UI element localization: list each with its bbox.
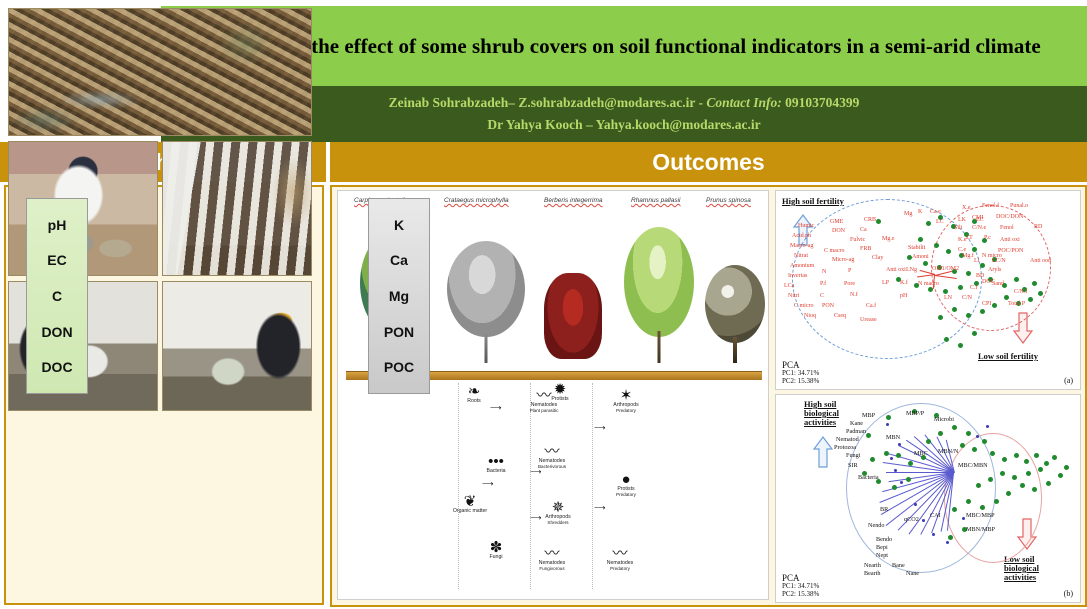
soil-samples-drying-photo	[162, 141, 312, 276]
food-web-node-organic-matter: ❦ Organic matter	[441, 495, 499, 514]
indicator-poc: POC	[384, 352, 414, 382]
indicator-ec: EC	[47, 245, 66, 275]
nematode-icon: 〰	[591, 547, 649, 561]
contact-phone: 09103704399	[782, 95, 860, 110]
food-web-node-arthropods-predatory: ✶ ArthropodsPredatory	[597, 389, 655, 414]
low-fertility-note: Low soil fertility	[978, 351, 1038, 361]
arthropod-predatory-icon: ✶	[597, 389, 655, 403]
species-label-4: Prunus spinosa	[706, 197, 751, 204]
section-header-outcomes: Outcomes	[330, 142, 1087, 182]
pca-b-canvas: High soil biological activities Low soil…	[776, 395, 1080, 602]
food-web-node-nematodes-predatory: 〰 NematodesPredatory	[591, 547, 649, 572]
page-title: Analysis of the effect of some shrub cov…	[207, 31, 1041, 61]
high-fertility-note: High soil fertility	[782, 196, 844, 206]
indicator-mg: Mg	[389, 281, 409, 311]
food-web-node-protists-group: ✹ Protists	[531, 383, 589, 402]
author-line-primary: Zeinab Sohrabzadeh– Z.sohrabzadeh@modare…	[389, 95, 860, 111]
nematode-icon: 〰	[523, 445, 581, 459]
food-web-node-bacteria: ••• Bacteria	[467, 455, 525, 474]
pca-a-variance-note: PCA PC1: 34.71% PC2: 15.38%	[782, 361, 819, 385]
species-label-3: Rhamnus pallasii	[631, 197, 681, 204]
low-biological-activity-note: Low soil biological activities	[1004, 555, 1056, 582]
bacteria-icon: •••	[467, 455, 525, 469]
food-web-node-nematodes-fungivorous: 〰 NematodesFungivorous	[523, 547, 581, 572]
pca-plot-fertility: High soil fertility Low soil fertility	[775, 190, 1081, 390]
food-web-node-fungi: ✽ Fungi	[467, 541, 525, 560]
tree-illustration-rhamnus	[622, 213, 696, 363]
field-litter-photo	[8, 8, 312, 136]
indicator-pon: PON	[384, 317, 414, 347]
tree-illustration-crataegus	[446, 223, 526, 363]
tree-illustration-berberis	[542, 251, 604, 363]
fungi-icon: ✽	[467, 541, 525, 555]
tree-illustration-prunus	[704, 241, 766, 363]
author-line-supervisor: Dr Yahya Kooch – Yahya.kooch@modares.ac.…	[487, 117, 760, 133]
nematode-icon: 〰	[523, 547, 581, 561]
indicator-ca: Ca	[390, 245, 408, 275]
protist-predatory-icon: ●	[597, 473, 655, 487]
food-web-node-roots: ❧ Roots	[445, 385, 503, 404]
indicator-don: DON	[41, 317, 72, 347]
pca-plot-biological-activity: High soil biological activities Low soil…	[775, 394, 1081, 603]
author-name-email: Zeinab Sohrabzadeh– Z.sohrabzadeh@modare…	[389, 95, 707, 110]
arrow-up-icon	[812, 435, 834, 469]
indicator-k: K	[394, 210, 404, 240]
lab-titration-photo	[162, 281, 312, 411]
soil-indicator-box-left: pH EC C DON DOC	[26, 198, 88, 394]
roots-icon: ❧	[445, 385, 503, 399]
protist-amoeba-icon: ✹	[531, 383, 589, 397]
pca-b-variance-note: PCA PC1: 34.71% PC2: 15.38%	[782, 574, 819, 598]
species-label-1: Crataegus microphylla	[444, 197, 509, 204]
pca-b-panel-letter: (b)	[1064, 589, 1073, 598]
organic-matter-icon: ❦	[441, 495, 499, 509]
food-web-node-protists-predatory: ● ProtistsPredatory	[597, 473, 655, 498]
pca-a-canvas: High soil fertility Low soil fertility	[776, 191, 1080, 389]
indicator-doc: DOC	[41, 352, 72, 382]
indicator-c: C	[52, 281, 62, 311]
indicator-ph: pH	[48, 210, 67, 240]
high-biological-activity-note: High soil biological activities	[804, 400, 856, 427]
poster-root: Tarbiat Modares University Analysis of t…	[0, 0, 1087, 609]
soil-indicator-box-right: K Ca Mg PON POC	[368, 198, 430, 394]
pca-a-panel-letter: (a)	[1064, 376, 1073, 385]
species-label-2: Berberis integerrima	[544, 197, 603, 204]
contact-info-label: Contact Info:	[706, 95, 781, 110]
section-label-outcomes: Outcomes	[652, 149, 764, 176]
soil-food-web-diagram: ❧ Roots ❦ Organic matter ••• Bacteria ✽ …	[434, 383, 669, 589]
